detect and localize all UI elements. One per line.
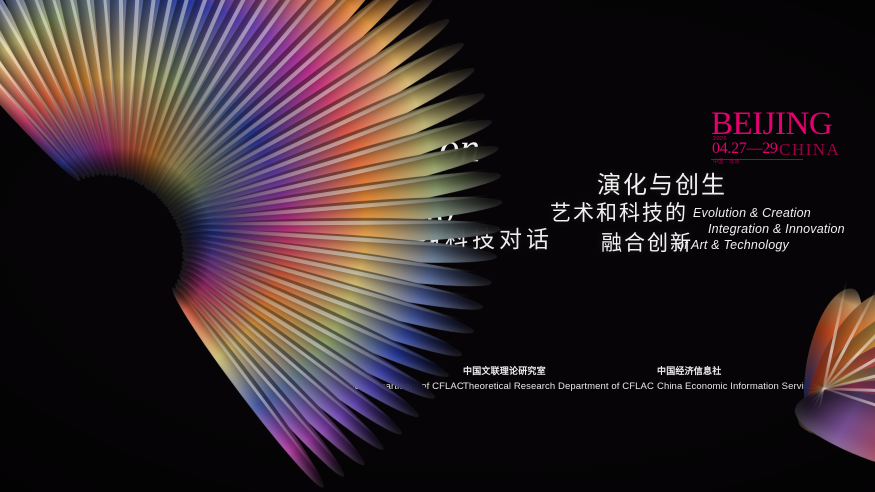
organizer-name-en: International Cooperation Department of … <box>256 381 464 392</box>
ribbon-blade-highlight <box>0 0 96 163</box>
organizer-item: 中国文联国际联络部 International Cooperation Depa… <box>256 364 464 392</box>
ribbon-blade-highlight <box>0 0 76 170</box>
organizers-block: 主办单位: Organizers: 中国文联国际联络部 Internationa… <box>256 328 856 398</box>
ribbon-blade-highlight <box>0 0 91 164</box>
theme-en-line-2: Integration & Innovation <box>708 222 845 236</box>
organizers-columns: 中国文联国际联络部 International Cooperation Depa… <box>256 364 856 398</box>
ribbon-blade <box>116 0 156 180</box>
ribbon-blade-highlight <box>0 0 86 166</box>
organizer-name-cn: 中国经济信息社 <box>657 364 814 377</box>
organizer-name-cn: 中国文联国际联络部 <box>256 364 464 377</box>
organizer-name-en: China Economic Information Service <box>657 381 814 392</box>
ribbon-blade <box>108 0 135 178</box>
ribbon-blade-highlight <box>126 0 146 163</box>
ribbon-blade-highlight <box>23 0 106 161</box>
ribbon-blade-highlight <box>131 0 173 164</box>
ribbon-blade <box>123 0 210 184</box>
theme-en-line-3: of Art & Technology <box>677 238 789 252</box>
ribbon-blade <box>130 0 263 190</box>
ribbon-blade-highlight <box>135 0 199 165</box>
ribbon-blade-highlight <box>45 0 111 161</box>
ribbon-blade <box>12 0 117 179</box>
main-title: Global Dialogue on A rt & T echnology 世界… <box>248 92 548 262</box>
theme-cn-line-1: 演化与创生 <box>597 165 727 200</box>
logo-city: BEIJING <box>711 108 832 141</box>
ribbon-blade <box>127 0 237 187</box>
ribbon-blade <box>0 0 86 186</box>
ribbon-blade-highlight <box>117 0 125 162</box>
title-chinese-subtitle: 世界艺术与科技对话 <box>310 220 553 254</box>
organizer-item: 中国文联理论研究室 Theoretical Research Departmen… <box>463 364 654 392</box>
ribbon-blade <box>0 0 107 180</box>
logo-divider-rule <box>711 159 803 160</box>
ribbon-blade <box>0 0 102 181</box>
ribbon-blade <box>58 0 126 178</box>
logo-country: CHINA <box>779 141 840 158</box>
poster-canvas: Global Dialogue on A rt & T echnology 世界… <box>0 0 875 492</box>
ribbon-blade <box>0 0 91 184</box>
ribbon-blade-highlight <box>0 0 81 168</box>
organizers-heading-en: Organizers: <box>256 344 856 355</box>
organizers-heading-cn: 主办单位: <box>256 328 856 341</box>
beijing-china-logo: BEIJING 2026 04.27—29 中国 · 北京 CHINA <box>711 108 851 166</box>
ribbon-blade-highlight <box>139 0 225 167</box>
organizer-item: 中国经济信息社 China Economic Information Servi… <box>657 364 814 392</box>
logo-date: 04.27—29 <box>712 141 778 157</box>
theme-block: 演化与创生 艺术和科技的 融合创新 Evolution & Creation I… <box>545 165 865 260</box>
theme-en-line-1: Evolution & Creation <box>693 206 811 220</box>
theme-cn-line-2: 艺术和科技的 <box>550 197 688 227</box>
ribbon-blade <box>0 0 97 183</box>
organizer-name-cn: 中国文联理论研究室 <box>463 364 654 377</box>
ribbon-blade-highlight <box>92 0 120 161</box>
ribbon-blade <box>0 0 112 179</box>
ribbon-blade <box>34 0 121 178</box>
ribbon-blade <box>120 0 183 182</box>
ribbon-blade-highlight <box>68 0 116 161</box>
organizer-name-en: Theoretical Research Department of CFLAC <box>463 381 654 392</box>
ribbon-blade-highlight <box>2 0 101 162</box>
ribbon-blade <box>82 0 130 178</box>
ribbon-blade-highlight <box>143 0 250 169</box>
